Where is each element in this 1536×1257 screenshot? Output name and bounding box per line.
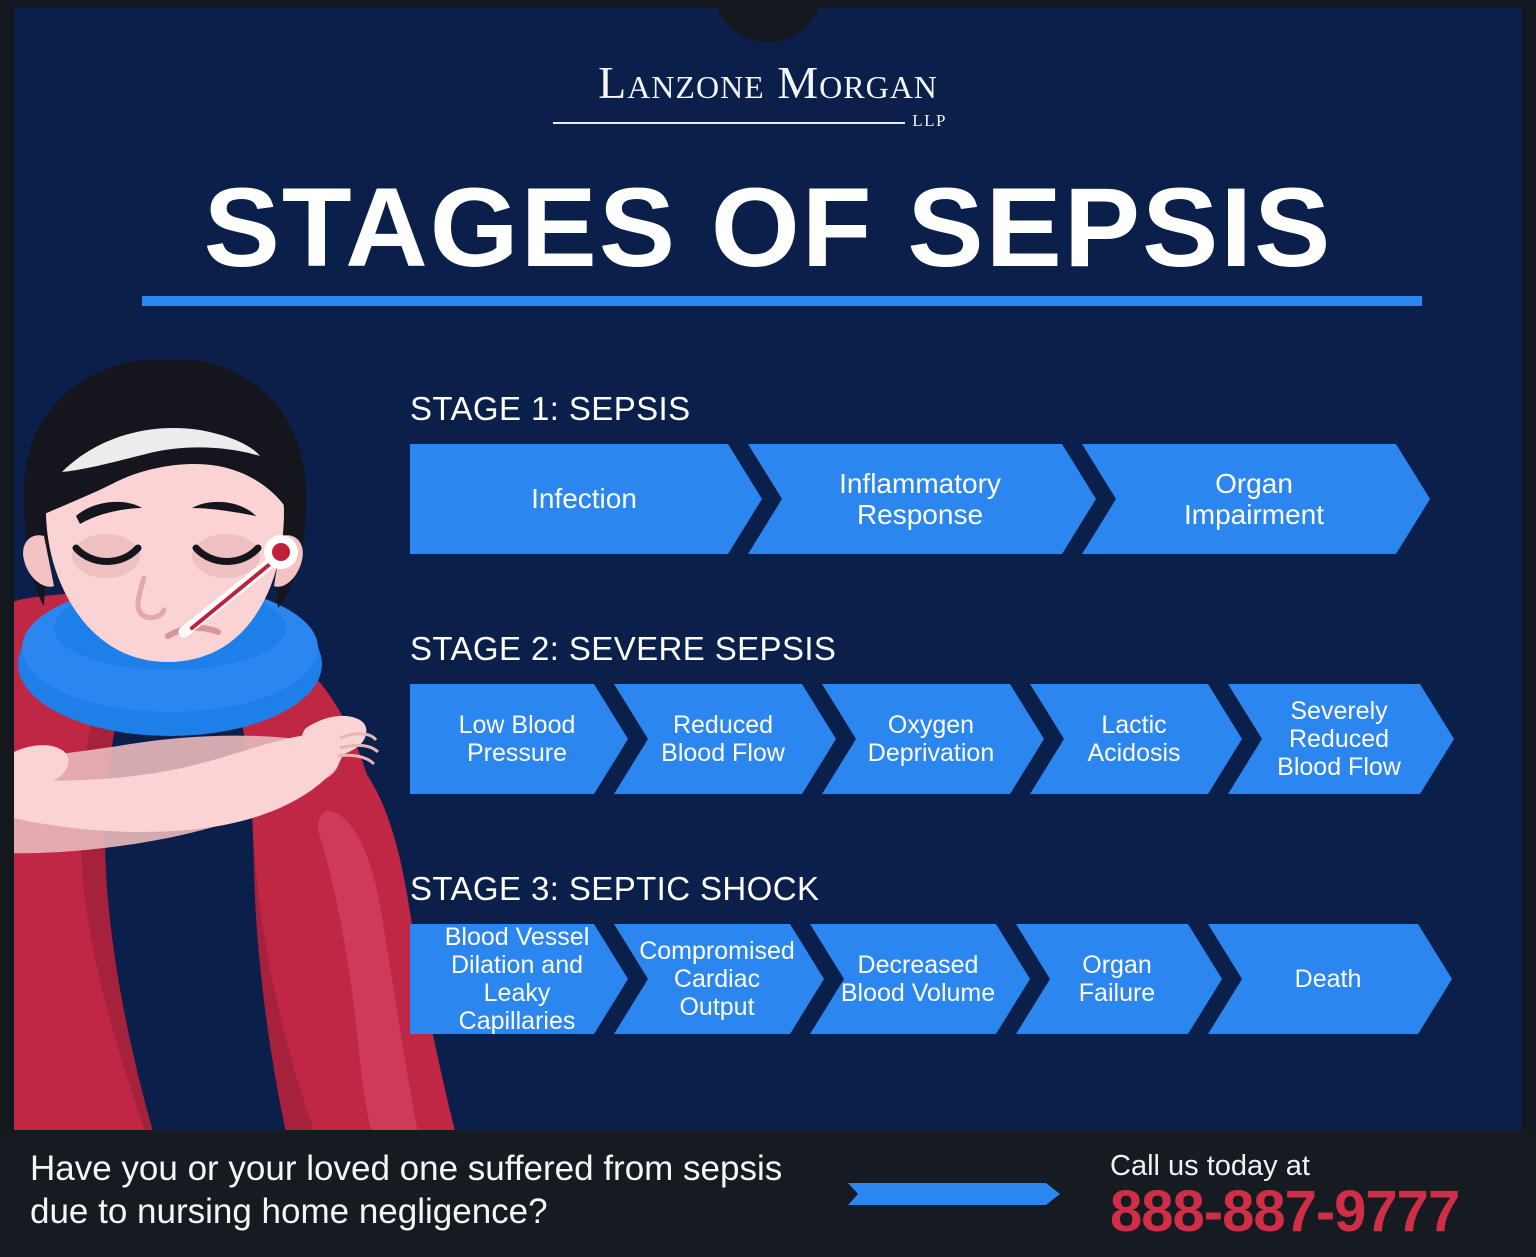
collar-opening xyxy=(54,586,286,670)
stage-3-step-4-label: OrganFailure xyxy=(1079,951,1155,1007)
arm-front xyxy=(14,734,343,832)
infographic-root: Lanzone Morgan LLP STAGES OF SEPSIS xyxy=(0,0,1536,1257)
stage-3-step-1[interactable]: Blood VesselDilation andLeaky Capillarie… xyxy=(410,924,628,1034)
eye-closed-left xyxy=(76,548,138,562)
stage-3-heading: STAGE 3: SEPTIC SHOCK xyxy=(410,870,1452,908)
stage-1-heading: STAGE 1: SEPSIS xyxy=(410,390,1430,428)
stage-1-step-2-label: InflammatoryResponse xyxy=(839,468,1001,531)
torso-dark xyxy=(105,648,288,1130)
stage-2-block: STAGE 2: SEVERE SEPSIS Low BloodPressure… xyxy=(410,630,1454,794)
footer-question-text: Have you or your loved one suffered from… xyxy=(30,1148,820,1233)
stage-1-chevron-row: Infection InflammatoryResponse OrganImpa… xyxy=(410,444,1430,554)
stage-3-step-1-label: Blood VesselDilation andLeaky Capillarie… xyxy=(436,923,598,1035)
stage-1-step-3[interactable]: OrganImpairment xyxy=(1082,444,1430,554)
logo-suffix: LLP xyxy=(912,111,947,131)
neck xyxy=(108,540,238,644)
hand-right xyxy=(302,716,367,758)
stage-1-step-2[interactable]: InflammatoryResponse xyxy=(748,444,1096,554)
logo-underline-row: LLP xyxy=(553,113,983,133)
stage-2-step-5[interactable]: SeverelyReducedBlood Flow xyxy=(1228,684,1454,794)
logo-wordmark: Lanzone Morgan xyxy=(14,60,1522,106)
blanket-shadow xyxy=(81,650,318,1130)
stage-3-chevron-row: Blood VesselDilation andLeaky Capillarie… xyxy=(410,924,1452,1034)
eye-shadow-left xyxy=(72,534,140,578)
stage-2-step-3[interactable]: OxygenDeprivation xyxy=(822,684,1044,794)
nose xyxy=(138,578,164,618)
stage-1-step-3-label: OrganImpairment xyxy=(1184,468,1324,531)
stage-1-block: STAGE 1: SEPSIS Infection InflammatoryRe… xyxy=(410,390,1430,554)
stage-2-step-4-label: LacticAcidosis xyxy=(1087,711,1180,767)
stage-1-step-1-label: Infection xyxy=(531,483,637,514)
stage-3-step-3[interactable]: DecreasedBlood Volume xyxy=(810,924,1030,1034)
stage-2-step-2-label: ReducedBlood Flow xyxy=(661,711,785,767)
footer-phone-number[interactable]: 888-887-9777 xyxy=(1110,1182,1459,1243)
hand-right-fingers xyxy=(338,734,378,764)
collar-front xyxy=(22,584,318,712)
stage-1-step-1[interactable]: Infection xyxy=(410,444,762,554)
footer-chevron-divider xyxy=(848,1183,1060,1205)
thermometer-icon xyxy=(184,535,298,632)
face xyxy=(46,418,284,662)
stage-2-heading: STAGE 2: SEVERE SEPSIS xyxy=(410,630,1454,668)
hair-fringe xyxy=(40,402,290,516)
collar-back xyxy=(18,592,322,736)
main-panel: Lanzone Morgan LLP STAGES OF SEPSIS xyxy=(14,8,1522,1130)
stage-2-step-1[interactable]: Low BloodPressure xyxy=(410,684,628,794)
title-underline-bar xyxy=(142,296,1422,306)
eye-closed-right xyxy=(196,548,258,562)
stage-2-step-1-label: Low BloodPressure xyxy=(459,711,576,767)
eyebrow-right xyxy=(192,502,256,516)
stage-2-step-4[interactable]: LacticAcidosis xyxy=(1030,684,1242,794)
stage-3-step-5-label: Death xyxy=(1295,965,1362,993)
stage-3-step-2-label: CompromisedCardiacOutput xyxy=(639,937,795,1021)
brand-logo: Lanzone Morgan LLP xyxy=(14,60,1522,133)
stage-2-step-2[interactable]: ReducedBlood Flow xyxy=(614,684,836,794)
stage-2-step-3-label: OxygenDeprivation xyxy=(868,711,994,767)
blanket-back xyxy=(14,592,458,1130)
stage-3-block: STAGE 3: SEPTIC SHOCK Blood VesselDilati… xyxy=(410,870,1452,1034)
blanket-right-highlight xyxy=(318,811,420,1130)
hair-back xyxy=(24,360,306,608)
blanket-left xyxy=(14,690,48,1130)
arm-back xyxy=(14,736,339,854)
eye-shadow-right xyxy=(192,534,260,578)
stage-3-step-2[interactable]: CompromisedCardiacOutput xyxy=(614,924,824,1034)
stage-3-step-4[interactable]: OrganFailure xyxy=(1016,924,1222,1034)
hair-highlight xyxy=(62,428,260,472)
page-title: STAGES OF SEPSIS xyxy=(14,172,1522,284)
stage-3-step-3-label: DecreasedBlood Volume xyxy=(841,951,995,1007)
stage-2-chevron-row: Low BloodPressure ReducedBlood Flow Oxyg… xyxy=(410,684,1454,794)
ear-right xyxy=(274,535,303,587)
stage-2-step-5-label: SeverelyReducedBlood Flow xyxy=(1277,697,1401,781)
mouth xyxy=(168,628,218,636)
footer-bar: Have you or your loved one suffered from… xyxy=(0,1130,1536,1257)
top-notch-decoration xyxy=(713,8,823,42)
stage-3-step-5[interactable]: Death xyxy=(1208,924,1452,1034)
eyebrow-left xyxy=(76,502,142,524)
hand-left xyxy=(14,745,68,785)
logo-rule xyxy=(553,122,905,124)
ear-left xyxy=(23,535,54,587)
